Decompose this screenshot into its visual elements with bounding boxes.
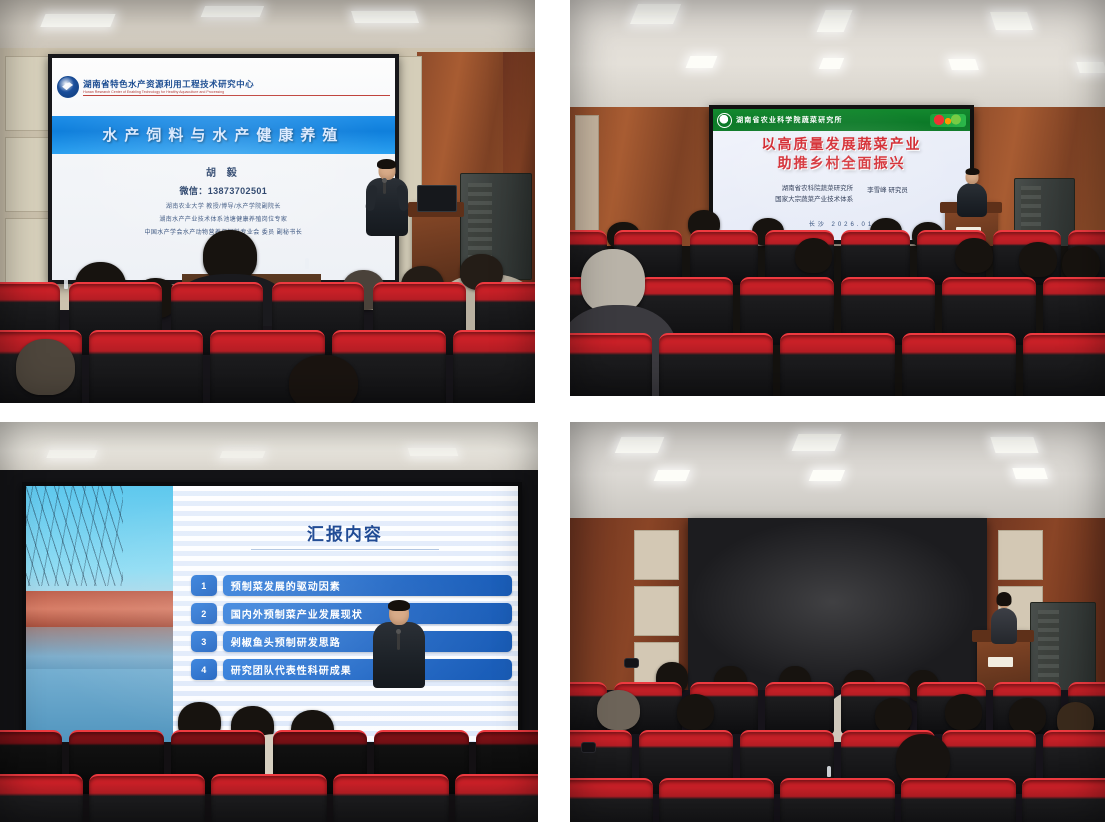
seat: [455, 774, 538, 822]
slide-heading: 汇报内容: [177, 520, 512, 545]
presenter-hair: [388, 600, 410, 611]
seat: [1022, 778, 1105, 822]
seat-row: [570, 333, 1105, 396]
ceiling-light-icon: [219, 451, 265, 458]
agenda-item: 2 国内外预制菜产业发展现状: [191, 603, 513, 624]
ceiling-light-icon: [685, 56, 716, 68]
tree-branch-overlay: [26, 486, 124, 586]
presenter-body: [991, 608, 1017, 644]
ceiling-light-icon: [990, 437, 1038, 453]
seat: [765, 682, 834, 734]
ceiling-light-icon: [408, 448, 459, 456]
seat: [89, 330, 203, 403]
presenter-hair: [965, 168, 979, 175]
photo-collage: 湖南省特色水产资源利用工程技术研究中心 Hunan Research Cente…: [0, 0, 1105, 822]
agenda-item-number: 3: [191, 631, 217, 652]
ceiling-light-icon: [809, 470, 845, 481]
agenda-item-label: 剁椒鱼头预制研发思路: [223, 631, 513, 652]
seat: [570, 333, 652, 396]
wall-panel: [998, 530, 1043, 580]
ceiling: [0, 422, 538, 470]
audience-head: [1062, 246, 1099, 282]
wall-panel: [634, 530, 679, 580]
microphone-icon: [383, 181, 386, 194]
seat: [0, 774, 83, 822]
agenda-item-number: 2: [191, 603, 217, 624]
slide-header-en: Hunan Research Center of Enabling Techno…: [83, 90, 389, 96]
projection-screen: 汇报内容 1 预制菜发展的驱动因素 2 国内外预制菜产业发展现状: [22, 482, 523, 752]
audience-head: [1019, 242, 1056, 278]
ceiling: [570, 0, 1105, 107]
microphone-icon: [397, 632, 400, 650]
slide-agenda: 汇报内容 1 预制菜发展的驱动因素 2 国内外预制菜产业发展现状: [173, 486, 518, 748]
wall-panel: [5, 56, 50, 131]
presenter-figure: [371, 602, 427, 694]
slide-org-block: 湖南省农科院蔬菜研究所 国家大宗蔬菜产业技术体系: [775, 183, 853, 205]
seat-row: [570, 778, 1105, 822]
seat-row: [0, 330, 535, 403]
slide-title: 以高质量发展蔬菜产业 助推乡村全面振兴: [713, 135, 970, 173]
water-bottle: [827, 766, 831, 777]
slide-content-3: 汇报内容 1 预制菜发展的驱动因素 2 国内外预制菜产业发展现状: [26, 486, 519, 748]
ceiling-light-icon: [201, 6, 264, 17]
ceiling-light-icon: [630, 4, 681, 24]
presenter-figure: [364, 161, 410, 239]
wall-panel: [5, 218, 50, 293]
auditorium-scene-1: 湖南省特色水产资源利用工程技术研究中心 Hunan Research Cente…: [0, 0, 535, 403]
audience-head: [677, 694, 714, 730]
agenda-item-label: 国内外预制菜产业发展现状: [223, 603, 513, 624]
slide-org-line-2: 国家大宗蔬菜产业技术体系: [775, 194, 853, 205]
ceiling-light-icon: [990, 12, 1033, 30]
seat: [453, 330, 535, 403]
seat: [570, 778, 653, 822]
slide-header-band: 湖南省农业科学院蔬菜研究所: [713, 109, 970, 131]
agenda-item: 1 预制菜发展的驱动因素: [191, 575, 513, 596]
audience-head: [955, 238, 992, 274]
wall-panel: [634, 586, 679, 636]
water-bottle: [305, 258, 309, 269]
seat-row: [0, 774, 538, 822]
equipment-cabinet: [1030, 602, 1096, 692]
speaker-contact: 微信：13873702501: [52, 184, 394, 197]
seat: [659, 333, 773, 396]
seat: [333, 774, 449, 822]
wall-panel: [575, 115, 598, 240]
auditorium-scene-2: 湖南省农业科学院蔬菜研究所 以高质量发展蔬菜产业 助推乡村全面振兴 湖南省农科院…: [570, 0, 1105, 396]
presenter-head: [378, 161, 395, 180]
agenda-item-number: 1: [191, 575, 217, 596]
slide-org-line-1: 湖南省农科院蔬菜研究所: [775, 183, 853, 194]
audience-head-grey: [581, 249, 645, 312]
ceiling-light-icon: [47, 450, 99, 458]
ceiling-light-icon: [817, 10, 853, 32]
audience-head: [795, 238, 832, 274]
audience-head: [945, 694, 982, 730]
ceiling-light-icon: [351, 11, 419, 23]
institute-name: 湖南省农业科学院蔬菜研究所: [736, 115, 926, 125]
photo-panel-bottom-right[interactable]: 湖南中医药大学 湖南省中药材产业现状及药食 同源产品的开发 主讲人：谢梦洲 20…: [570, 422, 1105, 822]
ceiling-light-icon: [948, 59, 978, 70]
presenter-hair: [377, 159, 396, 169]
speaker-affiliation-2: 湖南水产产业技术体系池塘健康养殖岗位专家: [52, 214, 394, 223]
presenter-hair: [997, 592, 1012, 606]
agenda-item: 4 研究团队代表性科研成果: [191, 659, 513, 680]
slide-title-line-2: 助推乡村全面振兴: [713, 154, 970, 173]
ceiling-light-icon: [1012, 468, 1048, 479]
podium-monitor: [417, 185, 456, 211]
ceiling: [0, 0, 535, 48]
audience-head: [1009, 698, 1046, 734]
speaker-name: 胡 毅: [52, 164, 394, 179]
slide-title-band: 水产饲料与水产健康养殖: [52, 116, 394, 154]
presenter-head: [998, 594, 1010, 608]
ceiling: [570, 422, 1105, 518]
smartphone-icon[interactable]: [624, 658, 639, 668]
agenda-item-label: 研究团队代表性科研成果: [223, 659, 513, 680]
research-center-logo-icon: [57, 76, 79, 98]
seat: [659, 778, 774, 822]
slide-header-cn: 湖南省特色水产资源利用工程技术研究中心: [83, 78, 389, 90]
presenter-body: [957, 183, 987, 217]
auditorium-scene-3: 汇报内容 1 预制菜发展的驱动因素 2 国内外预制菜产业发展现状: [0, 422, 538, 822]
slide-presenter-name: 李雪峰 研究员: [867, 183, 908, 194]
audience-head-grey: [597, 690, 640, 730]
slide-content-2: 湖南省农业科学院蔬菜研究所 以高质量发展蔬菜产业 助推乡村全面振兴 湖南省农科院…: [713, 109, 970, 240]
slide-header: 湖南省特色水产资源利用工程技术研究中心 Hunan Research Cente…: [52, 58, 394, 116]
slide-title: 水产饲料与水产健康养殖: [102, 124, 344, 145]
presenter-figure: [987, 594, 1021, 642]
podium-nameplate: [988, 657, 1013, 667]
presenter-head: [389, 602, 409, 625]
presenter-figure: [955, 170, 989, 214]
agenda-item-label: 预制菜发展的驱动因素: [223, 575, 513, 596]
ceiling-light-icon: [40, 14, 115, 27]
seat: [89, 774, 205, 822]
agenda-list: 1 预制菜发展的驱动因素 2 国内外预制菜产业发展现状 3 剁椒鱼头预制研发思路: [177, 575, 512, 680]
photo-panel-bottom-left[interactable]: 汇报内容 1 预制菜发展的驱动因素 2 国内外预制菜产业发展现状: [0, 422, 538, 822]
speaker-affiliation-1: 湖南农业大学 教授/博导/水产学院副院长: [52, 201, 394, 210]
presenter-head: [966, 170, 979, 184]
agenda-item: 3 剁椒鱼头预制研发思路: [191, 631, 513, 652]
slide-subtitle: 湖南省农科院蔬菜研究所 国家大宗蔬菜产业技术体系 李雪峰 研究员: [713, 183, 970, 205]
smartphone-icon[interactable]: [581, 742, 596, 753]
audience-head: [16, 339, 75, 395]
seat: [901, 778, 1016, 822]
slide-campus-photo: [26, 486, 174, 748]
photo-panel-top-left[interactable]: 湖南省特色水产资源利用工程技术研究中心 Hunan Research Cente…: [0, 0, 535, 403]
slide-title-line-1: 以高质量发展蔬菜产业: [713, 135, 970, 154]
ceiling-light-icon: [653, 470, 689, 481]
agenda-item-number: 4: [191, 659, 217, 680]
seat: [1023, 333, 1105, 396]
vegetable-image-icon: [930, 114, 966, 127]
ceiling-light-icon: [1077, 62, 1105, 73]
seat: [211, 774, 327, 822]
ceiling-light-icon: [791, 434, 841, 451]
auditorium-scene-4: 湖南中医药大学 湖南省中药材产业现状及药食 同源产品的开发 主讲人：谢梦洲 20…: [570, 422, 1105, 822]
photo-panel-top-right[interactable]: 湖南省农业科学院蔬菜研究所 以高质量发展蔬菜产业 助推乡村全面振兴 湖南省农科院…: [570, 0, 1105, 396]
audience-head: [289, 355, 359, 403]
institute-logo-icon: [717, 113, 732, 128]
ceiling-light-icon: [615, 437, 664, 453]
audience-head: [875, 698, 912, 734]
ceiling-light-icon: [819, 58, 845, 69]
seat: [780, 778, 895, 822]
seat: [780, 333, 894, 396]
seat: [902, 333, 1016, 396]
wall-panel: [5, 137, 50, 212]
